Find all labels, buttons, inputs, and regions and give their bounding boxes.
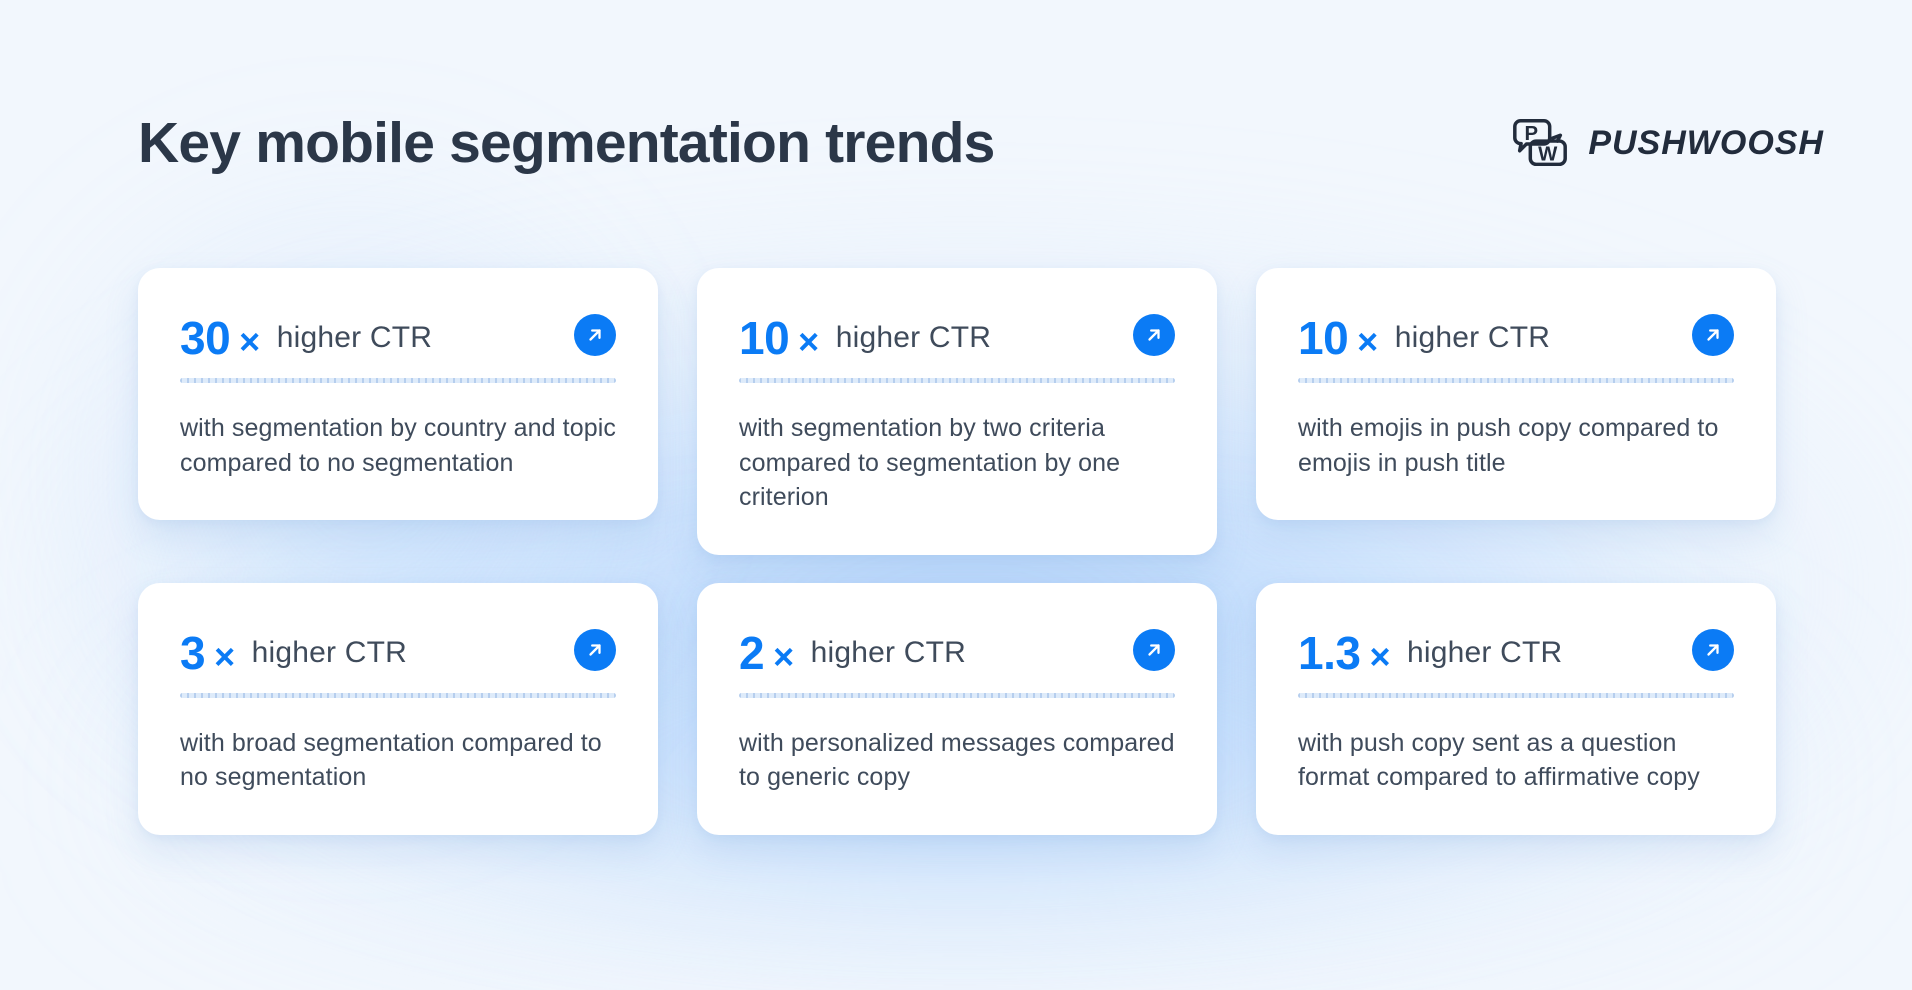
svg-text:W: W: [1538, 143, 1558, 165]
stat-card[interactable]: 2 × higher CTR with personalized message…: [697, 583, 1217, 835]
stat-metric-label: higher CTR: [252, 636, 407, 670]
pushwoosh-logo-icon: P W: [1509, 112, 1571, 174]
brand-name: PUSHWOOSH: [1588, 124, 1824, 163]
stat-card[interactable]: 1.3 × higher CTR with push copy sent as …: [1256, 583, 1776, 835]
card-divider: [180, 378, 616, 383]
multiplier-symbol: ×: [773, 639, 794, 675]
arrow-up-right-icon[interactable]: [1692, 314, 1734, 356]
stat-metric: 1.3 ×: [1298, 630, 1390, 676]
stat-metric: 10 ×: [1298, 315, 1378, 361]
stat-card[interactable]: 3 × higher CTR with broad segmentation c…: [138, 583, 658, 835]
multiplier-symbol: ×: [1369, 639, 1390, 675]
stat-metric: 30 ×: [180, 315, 260, 361]
multiplier-symbol: ×: [214, 639, 235, 675]
arrow-up-right-icon[interactable]: [1133, 314, 1175, 356]
stat-metric: 10 ×: [739, 315, 819, 361]
stat-card[interactable]: 30 × higher CTR with segmentation by cou…: [138, 268, 658, 520]
stat-card-body: with segmentation by country and topic c…: [180, 411, 616, 480]
arrow-up-right-icon[interactable]: [1133, 629, 1175, 671]
brand-logo: P W PUSHWOOSH: [1509, 112, 1824, 174]
page-title: Key mobile segmentation trends: [138, 110, 995, 176]
card-divider: [180, 693, 616, 698]
stat-metric-label: higher CTR: [836, 321, 991, 355]
card-divider: [1298, 378, 1734, 383]
stat-metric-value: 10: [739, 315, 789, 361]
stat-metric-value: 30: [180, 315, 230, 361]
arrow-up-right-icon[interactable]: [574, 314, 616, 356]
stat-metric-label: higher CTR: [277, 321, 432, 355]
card-divider: [1298, 693, 1734, 698]
stat-metric-label: higher CTR: [1395, 321, 1550, 355]
stat-metric-value: 3: [180, 630, 205, 676]
multiplier-symbol: ×: [798, 324, 819, 360]
stat-card-header: 2 × higher CTR: [739, 627, 1175, 679]
stat-card[interactable]: 10 × higher CTR with segmentation by two…: [697, 268, 1217, 555]
stat-card-body: with segmentation by two criteria compar…: [739, 411, 1175, 515]
stat-metric-label: higher CTR: [811, 636, 966, 670]
stat-card-body: with push copy sent as a question format…: [1298, 726, 1734, 795]
stat-metric: 3 ×: [180, 630, 235, 676]
multiplier-symbol: ×: [1357, 324, 1378, 360]
multiplier-symbol: ×: [239, 324, 260, 360]
stat-metric-label: higher CTR: [1407, 636, 1562, 670]
stat-card[interactable]: 10 × higher CTR with emojis in push copy…: [1256, 268, 1776, 520]
svg-text:P: P: [1525, 123, 1539, 145]
stat-metric-value: 2: [739, 630, 764, 676]
stat-card-body: with personalized messages compared to g…: [739, 726, 1175, 795]
stat-card-header: 3 × higher CTR: [180, 627, 616, 679]
arrow-up-right-icon[interactable]: [1692, 629, 1734, 671]
stat-card-header: 10 × higher CTR: [739, 312, 1175, 364]
card-divider: [739, 693, 1175, 698]
stat-card-header: 30 × higher CTR: [180, 312, 616, 364]
infographic-page: Key mobile segmentation trends P W PUSHW…: [0, 0, 1912, 990]
stats-card-grid: 30 × higher CTR with segmentation by cou…: [138, 268, 1778, 835]
card-divider: [739, 378, 1175, 383]
stat-card-header: 1.3 × higher CTR: [1298, 627, 1734, 679]
header: Key mobile segmentation trends P W PUSHW…: [0, 0, 1912, 215]
stat-metric-value: 1.3: [1298, 630, 1360, 676]
stat-metric: 2 ×: [739, 630, 794, 676]
stat-card-header: 10 × higher CTR: [1298, 312, 1734, 364]
stat-card-body: with broad segmentation compared to no s…: [180, 726, 616, 795]
stat-metric-value: 10: [1298, 315, 1348, 361]
stat-card-body: with emojis in push copy compared to emo…: [1298, 411, 1734, 480]
arrow-up-right-icon[interactable]: [574, 629, 616, 671]
